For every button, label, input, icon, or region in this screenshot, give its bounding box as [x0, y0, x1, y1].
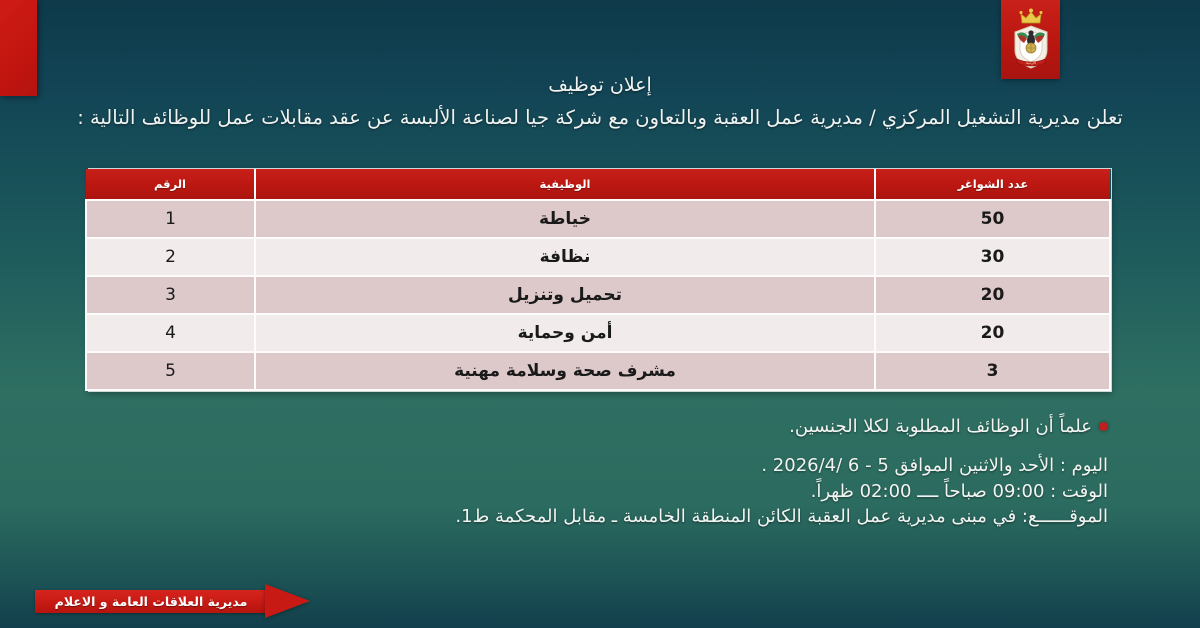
cell-number: 3	[86, 276, 255, 314]
page-title: إعلان توظيف	[0, 74, 1200, 96]
notes-section: علماً أن الوظائف المطلوبة لكلا الجنسين. …	[98, 416, 1108, 530]
table-row: 20 تحميل وتنزيل 3	[86, 276, 1110, 314]
jobs-table: عدد الشواغر الوظيفية الرقم 50 خياطة 1 30…	[88, 168, 1112, 392]
interview-details: اليوم : الأحد والاثنين الموافق 5 - 6 /20…	[98, 453, 1108, 530]
cell-number: 5	[86, 352, 255, 390]
cell-number: 1	[86, 200, 255, 238]
interview-day-line: اليوم : الأحد والاثنين الموافق 5 - 6 /20…	[98, 453, 1108, 479]
interview-location-line: الموقــــــع: في مبنى مديرية عمل العقبة …	[98, 504, 1108, 530]
cell-position: نظافة	[255, 238, 875, 276]
column-header-vacancies: عدد الشواغر	[875, 169, 1110, 200]
arrow-head-icon	[265, 584, 310, 618]
cell-vacancies: 50	[875, 200, 1110, 238]
cell-number: 2	[86, 238, 255, 276]
interview-time-line: الوقت : 09:00 صباحاً ــــ 02:00 ظهراً.	[98, 479, 1108, 505]
gender-note: علماً أن الوظائف المطلوبة لكلا الجنسين.	[98, 416, 1108, 437]
footer-department-label: مديرية العلاقات العامة و الاعلام	[35, 590, 267, 613]
table-row: 50 خياطة 1	[86, 200, 1110, 238]
svg-text:الأردنية: الأردنية	[1026, 60, 1036, 65]
cell-number: 4	[86, 314, 255, 352]
gender-note-text: علماً أن الوظائف المطلوبة لكلا الجنسين.	[789, 416, 1092, 437]
announcement-subtitle: تعلن مديرية التشغيل المركزي / مديرية عمل…	[0, 106, 1200, 129]
cell-position: أمن وحماية	[255, 314, 875, 352]
table-row: 20 أمن وحماية 4	[86, 314, 1110, 352]
cell-vacancies: 20	[875, 276, 1110, 314]
cell-position: مشرف صحة وسلامة مهنية	[255, 352, 875, 390]
cell-position: خياطة	[255, 200, 875, 238]
table-row: 3 مشرف صحة وسلامة مهنية 5	[86, 352, 1110, 390]
cell-vacancies: 30	[875, 238, 1110, 276]
bullet-dot-icon	[1099, 422, 1108, 431]
column-header-position: الوظيفية	[255, 169, 875, 200]
table-header-row: عدد الشواغر الوظيفية الرقم	[86, 169, 1110, 200]
cell-position: تحميل وتنزيل	[255, 276, 875, 314]
cell-vacancies: 20	[875, 314, 1110, 352]
cell-vacancies: 3	[875, 352, 1110, 390]
column-header-number: الرقم	[86, 169, 255, 200]
footer-arrow-banner: مديرية العلاقات العامة و الاعلام	[35, 584, 310, 619]
jordan-coat-of-arms-icon: الأردنية	[1001, 0, 1060, 79]
table-row: 30 نظافة 2	[86, 238, 1110, 276]
job-announcement-poster: الأردنية إعلان توظيف تعلن مديرية التشغيل…	[0, 0, 1200, 628]
